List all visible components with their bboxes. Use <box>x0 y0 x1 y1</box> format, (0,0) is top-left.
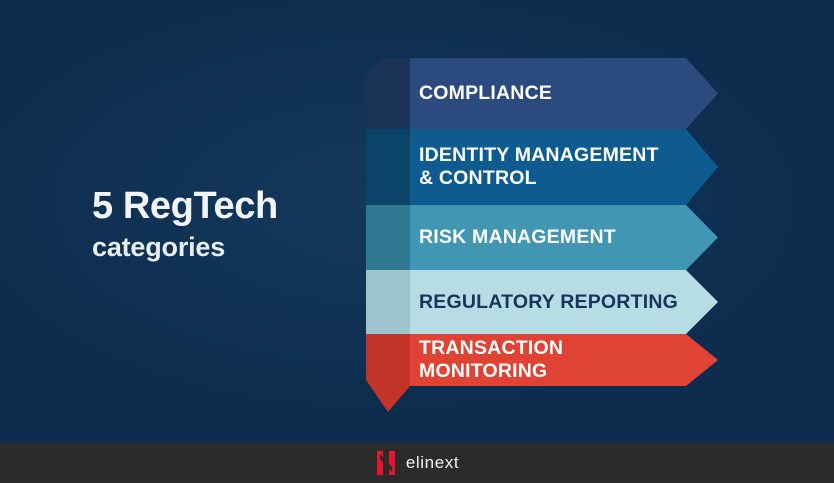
band-fold-shape <box>366 129 410 205</box>
category-band-risk-management[interactable]: RISK MANAGEMENT <box>366 205 726 270</box>
band-arrow-shape <box>410 270 718 334</box>
elinext-n-mark-icon <box>375 450 397 476</box>
category-band-transaction-monitoring[interactable]: TRANSACTION MONITORING <box>366 334 726 386</box>
band-arrow-shape <box>410 58 718 129</box>
band-arrow-shape <box>410 129 718 205</box>
band-fold-shape <box>366 58 410 129</box>
category-band-identity-management-control[interactable]: IDENTITY MANAGEMENT & CONTROL <box>366 129 726 205</box>
page-title: 5 RegTech categories <box>92 186 372 263</box>
slide-canvas: 5 RegTech categories COMPLIANCE IDENTITY… <box>0 0 834 483</box>
brand-wordmark: elinext <box>406 453 459 473</box>
category-band-regulatory-reporting[interactable]: REGULATORY REPORTING <box>366 270 726 334</box>
band-fold-shape <box>366 205 410 270</box>
regtech-category-stack: COMPLIANCE IDENTITY MANAGEMENT & CONTROL… <box>366 58 726 386</box>
band-arrow-shape <box>410 205 718 270</box>
band-fold-shape <box>366 270 410 334</box>
band-arrow-shape <box>410 334 718 386</box>
page-title-line-1: 5 RegTech <box>92 186 372 226</box>
page-title-line-2: categories <box>92 232 372 262</box>
category-band-compliance[interactable]: COMPLIANCE <box>366 58 726 129</box>
brand-logo[interactable]: elinext <box>375 450 459 476</box>
footer-bar: elinext <box>0 443 834 483</box>
